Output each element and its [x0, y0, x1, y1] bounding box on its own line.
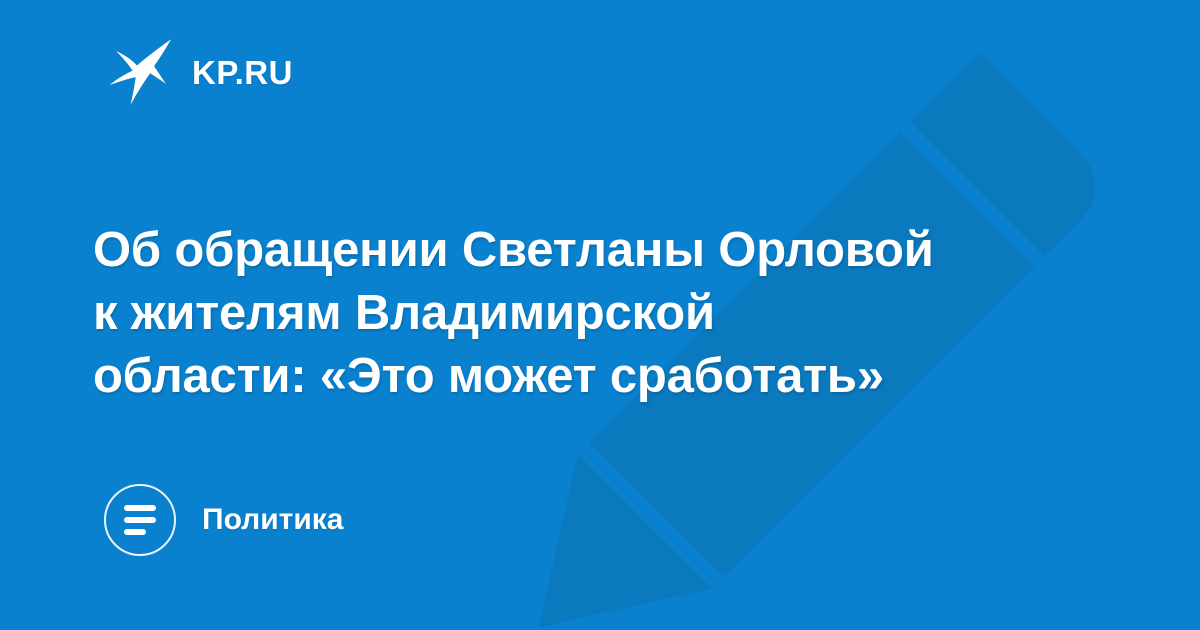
menu-lines — [124, 505, 156, 535]
rubric-label: Политика — [202, 505, 343, 535]
brand-logo[interactable]: KP.RU — [108, 38, 293, 106]
rubric[interactable]: Политика — [104, 484, 343, 556]
page-title: Об обращении Светланы Орловой к жителям … — [93, 219, 1053, 408]
hamburger-menu-icon[interactable] — [104, 484, 176, 556]
swallow-bird-icon — [108, 38, 174, 106]
share-card: KP.RU Об обращении Светланы Орловой к жи… — [0, 0, 1200, 630]
brand-name: KP.RU — [192, 56, 293, 89]
